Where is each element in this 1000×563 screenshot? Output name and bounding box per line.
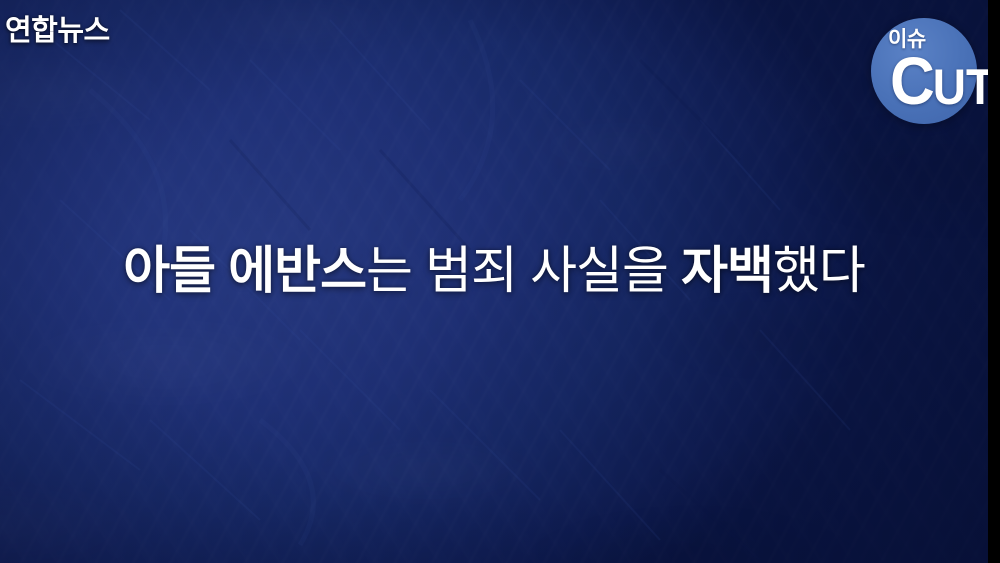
program-badge: 이슈 CUT: [871, 18, 977, 124]
program-badge-main-label-tail: UT: [933, 59, 994, 115]
subtitle-caption: 아들 에반스는 범죄 사실을 자백했다: [0, 240, 988, 302]
program-badge-main-label-lead: C: [890, 45, 933, 120]
subtitle-segment-3: 자백: [681, 242, 773, 299]
subtitle-segment-1: 아들 에반스: [123, 242, 366, 299]
subtitle-segment-4: 했다: [773, 242, 865, 299]
broadcaster-logo: 연합뉴스: [5, 17, 110, 46]
program-badge-main-label: CUT: [890, 49, 994, 116]
subtitle-segment-2: 는 범죄 사실을: [366, 242, 681, 299]
letterbox-bar-right: [988, 0, 1000, 563]
video-frame: 연합뉴스 이슈 CUT 아들 에반스는 범죄 사실을 자백했다: [0, 0, 1000, 563]
